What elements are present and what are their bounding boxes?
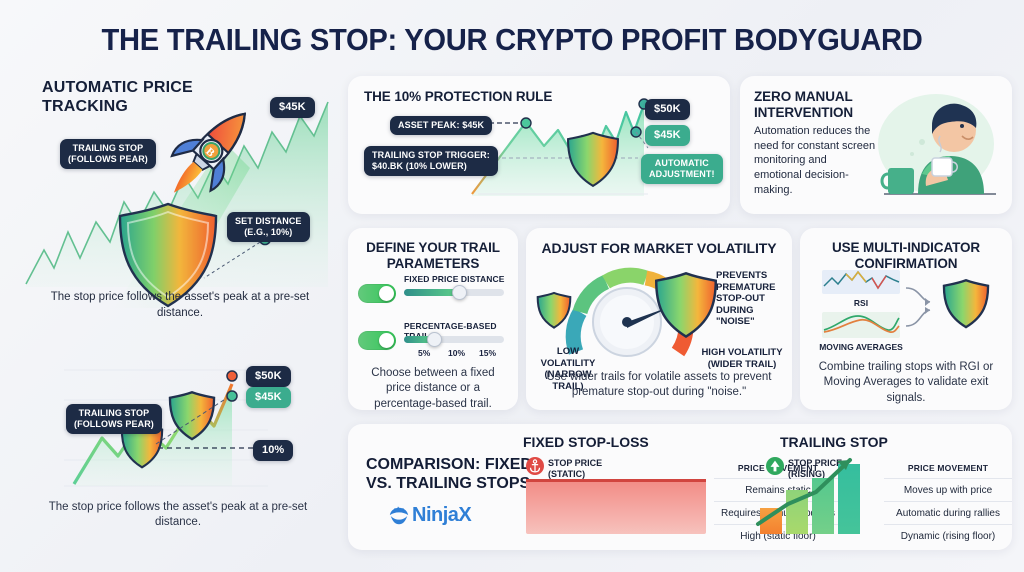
column-title-trailing-stop: TRAILING STOP	[780, 434, 888, 450]
caption-trail-parameters: Choose between a fixed price distance or…	[358, 366, 508, 412]
badge-trailing-stop: TRAILING STOP (FOLLOWS PEAR)	[60, 139, 156, 169]
trailing-stop-bars-chart	[754, 450, 876, 536]
toggle-percentage-based-trail[interactable]	[358, 331, 396, 350]
brand-logo: NinjaX	[388, 504, 471, 527]
heading-trail-parameters: DEFINE YOUR TRAIL PARAMETERS	[348, 240, 518, 272]
anchor-icon	[526, 457, 544, 475]
label-high-volatility: HIGH VOLATILITY (WIDER TRAIL)	[694, 347, 790, 370]
slider-thumb-fixed[interactable]	[452, 285, 467, 300]
panel-follows-peak: $50K $45K TRAILING STOP (FOLLOWS PEAR) 1…	[18, 352, 338, 552]
badge-high-price: $50K	[246, 366, 291, 387]
tick-10: 10%	[448, 348, 465, 358]
badge-stop-45k: $45K	[645, 125, 690, 146]
card-comparison: COMPARISON: FIXED VS. TRAILING STOPS Nin…	[348, 424, 1012, 550]
badge-asset-peak: ASSET PEAK: $45K	[390, 116, 492, 135]
badge-distance-percent: 10%	[253, 440, 293, 461]
heading-market-volatility: ADJUST FOR MARKET VOLATILITY	[526, 240, 792, 257]
badge-set-distance: SET DISTANCE (E.G., 10%)	[227, 212, 310, 242]
card-market-volatility: ADJUST FOR MARKET VOLATILITY	[526, 228, 792, 410]
heading-zero-manual: ZERO MANUAL INTERVENTION	[754, 89, 853, 121]
column-title-fixed-stop-loss: FIXED STOP-LOSS	[523, 434, 649, 450]
badge-stop-price: $45K	[246, 387, 291, 408]
infographic-root: THE TRAILING STOP: YOUR CRYPTO PROFIT BO…	[0, 0, 1024, 572]
caption-automatic-price-tracking: The stop price follows the asset's peak …	[30, 290, 330, 321]
label-rsi-chart: RSI	[822, 298, 900, 308]
note-prevents-premature-stopout: PREVENTS PREMATURE STOP-OUT DURING "NOIS…	[716, 270, 790, 328]
card-protection-rule: THE 10% PROTECTION RULE	[348, 76, 730, 214]
fixed-stop-price-line	[526, 479, 706, 482]
table-row: Automatic during rallies	[884, 501, 1012, 524]
tick-5: 5%	[418, 348, 430, 358]
ninja-mask-icon	[388, 505, 410, 527]
person-with-coffee-illustration	[866, 82, 1006, 210]
badge-trailing-stop-trigger: TRAILING STOP TRIGGER: $40.BK (10% LOWER…	[364, 146, 498, 176]
body-zero-manual: Automation reduces the need for constant…	[754, 124, 876, 198]
slider-fill	[404, 289, 459, 296]
table-trailing-stop: PRICE MOVEMENT Moves up with price Autom…	[884, 458, 1012, 547]
toggle-fixed-price-distance[interactable]	[358, 284, 396, 303]
slider-percentage-based-trail[interactable]	[404, 336, 504, 343]
caption-market-volatility: Use wider trails for volatile assets to …	[546, 370, 772, 401]
panel-automatic-price-tracking: B AUTOMATIC PRICE TRACKING $45K TRAILING…	[18, 72, 338, 322]
badge-peak-price: $45K	[270, 97, 315, 118]
card-trail-parameters: DEFINE YOUR TRAIL PARAMETERS FIXED PRICE…	[348, 228, 518, 410]
brand-name: NinjaX	[412, 504, 471, 527]
slider-thumb-percentage[interactable]	[427, 332, 442, 347]
table-header-price-movement-trailing: PRICE MOVEMENT	[884, 458, 1012, 478]
table-row: Dynamic (rising floor)	[884, 524, 1012, 547]
table-row: Moves up with price	[884, 478, 1012, 501]
badge-automatic-adjustment: AUTOMATIC ADJUSTMENT!	[641, 154, 723, 184]
badge-trailing-stop-2: TRAILING STOP (FOLLOWS PEAR)	[66, 404, 162, 434]
caption-multi-indicator: Combine trailing stops with RGI or Movin…	[812, 360, 1000, 406]
card-multi-indicator: USE MULTI-INDICATOR CONFIRMATION	[800, 228, 1012, 410]
caption-follows-peak: The stop price follows the asset's peak …	[28, 500, 328, 531]
card-zero-manual-intervention: ZERO MANUAL INTERVENTION Automation redu…	[740, 76, 1012, 214]
page-title: THE TRAILING STOP: YOUR CRYPTO PROFIT BO…	[31, 22, 994, 58]
label-fixed-price-distance: FIXED PRICE DISTANCE	[404, 274, 505, 284]
badge-high-50k: $50K	[645, 99, 690, 120]
heading-comparison: COMPARISON: FIXED VS. TRAILING STOPS	[366, 456, 536, 494]
label-moving-averages-chart: MOVING AVERAGES	[812, 342, 910, 352]
panel-heading-automatic-price-tracking: AUTOMATIC PRICE TRACKING	[42, 78, 193, 116]
tick-15: 15%	[479, 348, 496, 358]
fixed-stop-price-band	[526, 480, 706, 534]
label-stop-price-static: STOP PRICE (STATIC)	[548, 458, 602, 480]
